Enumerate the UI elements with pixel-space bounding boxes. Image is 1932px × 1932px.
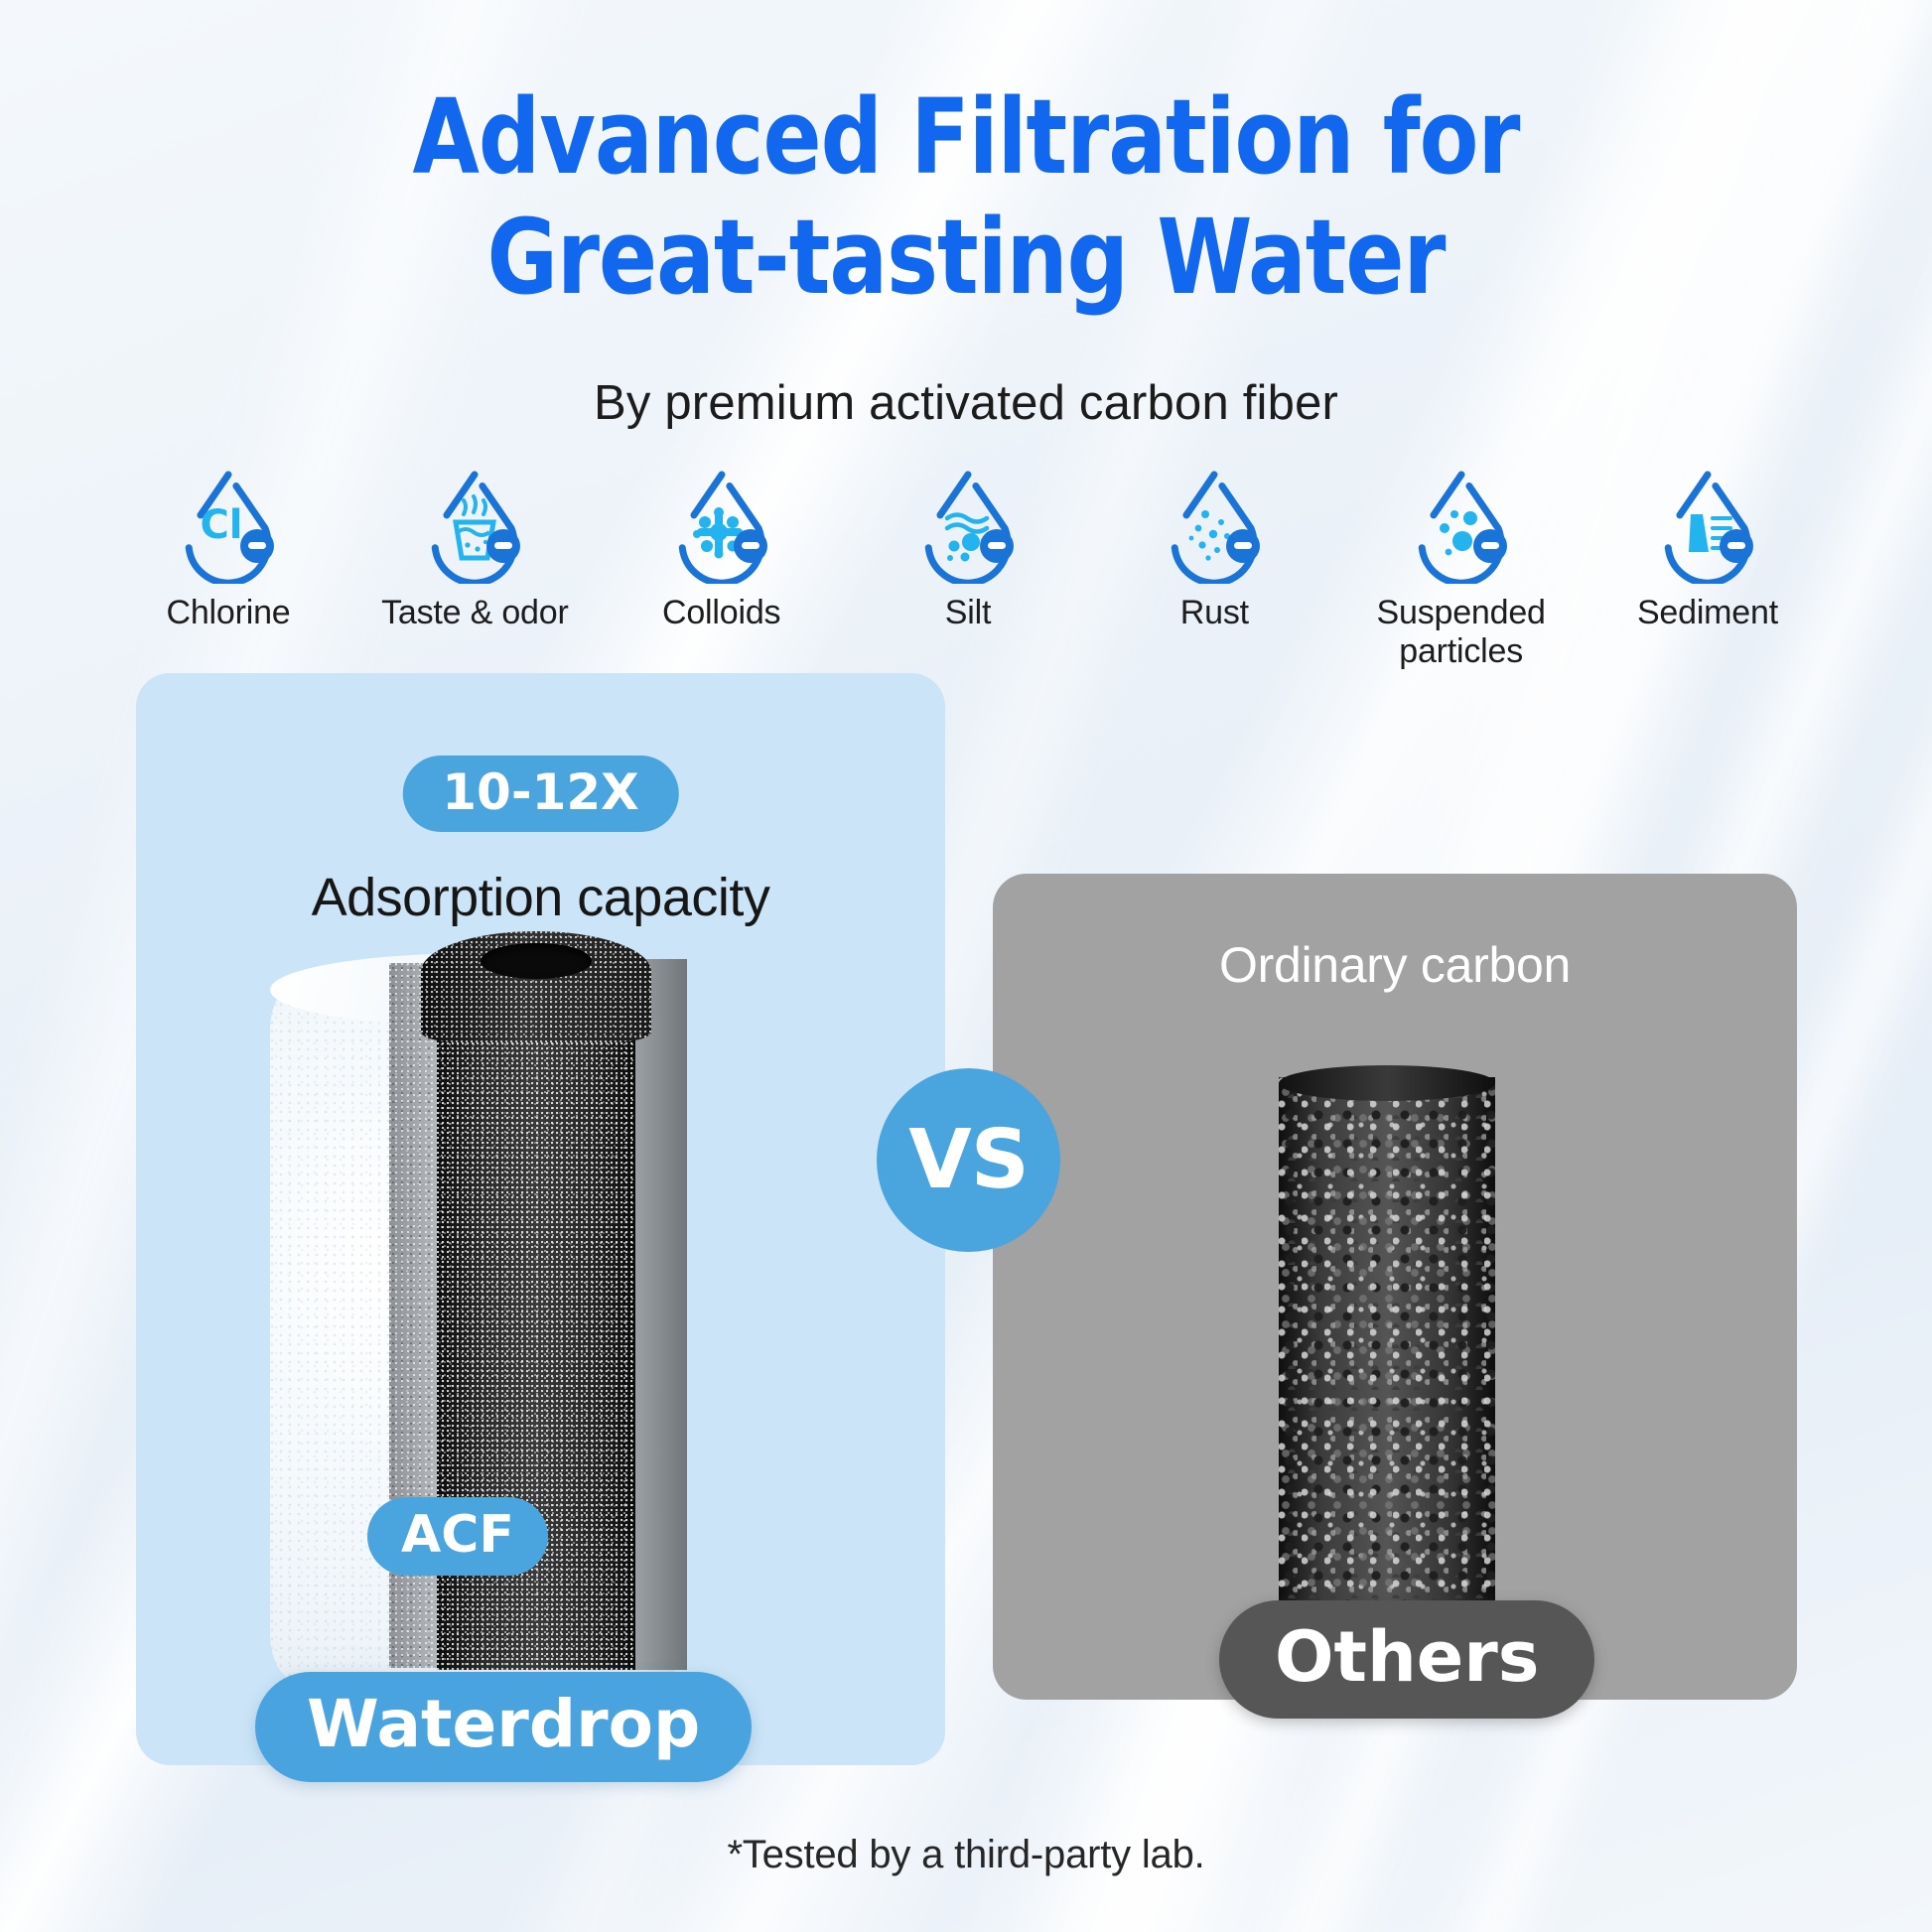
- rust-drop-icon: [1156, 467, 1273, 584]
- footnote-text: *Tested by a third-party lab.: [0, 1833, 1932, 1877]
- svg-text:Cl: Cl: [200, 502, 242, 548]
- taste-odor-drop-icon: [416, 467, 533, 584]
- contaminant-icon-row: Cl Chlorine: [129, 467, 1807, 672]
- ordinary-carbon-title: Ordinary carbon: [993, 936, 1797, 994]
- carbon-granule-texture: [1279, 1077, 1495, 1633]
- page-subtitle: By premium activated carbon fiber: [0, 375, 1932, 431]
- ordinary-carbon-cartridge: [1279, 1077, 1495, 1633]
- contaminant-label: Taste & odor: [381, 594, 569, 632]
- contaminant-item-silt: Silt: [869, 467, 1067, 632]
- title-line-1: Advanced Filtration for: [412, 76, 1519, 198]
- acf-filter-cartridge: ACF: [270, 953, 796, 1703]
- cartridge-center-hole: [481, 943, 592, 979]
- cartridge-gray-right-edge: [635, 959, 687, 1670]
- page-title: Advanced Filtration for Great-tasting Wa…: [68, 77, 1864, 317]
- title-line-2: Great-tasting Water: [68, 198, 1864, 318]
- contaminant-label: Chlorine: [166, 594, 290, 632]
- contaminant-label: Sediment: [1637, 594, 1778, 632]
- vs-badge: VS: [877, 1068, 1060, 1252]
- contaminant-item-colloids: Colloids: [622, 467, 821, 632]
- contaminant-item-taste-odor: Taste & odor: [375, 467, 574, 632]
- suspended-particles-drop-icon: [1403, 467, 1520, 584]
- contaminant-item-rust: Rust: [1115, 467, 1313, 632]
- waterdrop-brand-badge: Waterdrop: [255, 1672, 752, 1782]
- colloids-drop-icon: [663, 467, 780, 584]
- carbon-cartridge-top-ellipse: [1279, 1065, 1495, 1101]
- contaminant-item-chlorine: Cl Chlorine: [129, 467, 328, 632]
- cartridge-top-cap: [421, 931, 651, 1042]
- sediment-drop-icon: [1649, 467, 1766, 584]
- contaminant-label: Suspended particles: [1377, 594, 1546, 672]
- adsorption-capacity-caption: Adsorption capacity: [136, 867, 945, 928]
- contaminant-item-sediment: Sediment: [1608, 467, 1807, 632]
- acf-badge: ACF: [367, 1497, 548, 1576]
- adsorption-multiplier-badge: 10-12X: [402, 756, 678, 832]
- silt-drop-icon: [909, 467, 1027, 584]
- contaminant-item-suspended-particles: Suspended particles: [1362, 467, 1561, 672]
- others-brand-badge: Others: [1219, 1600, 1594, 1719]
- chlorine-drop-icon: Cl: [170, 467, 287, 584]
- contaminant-label: Rust: [1180, 594, 1249, 632]
- contaminant-label: Colloids: [662, 594, 780, 632]
- contaminant-label: Silt: [945, 594, 991, 632]
- infographic-canvas: Advanced Filtration for Great-tasting Wa…: [0, 0, 1932, 1932]
